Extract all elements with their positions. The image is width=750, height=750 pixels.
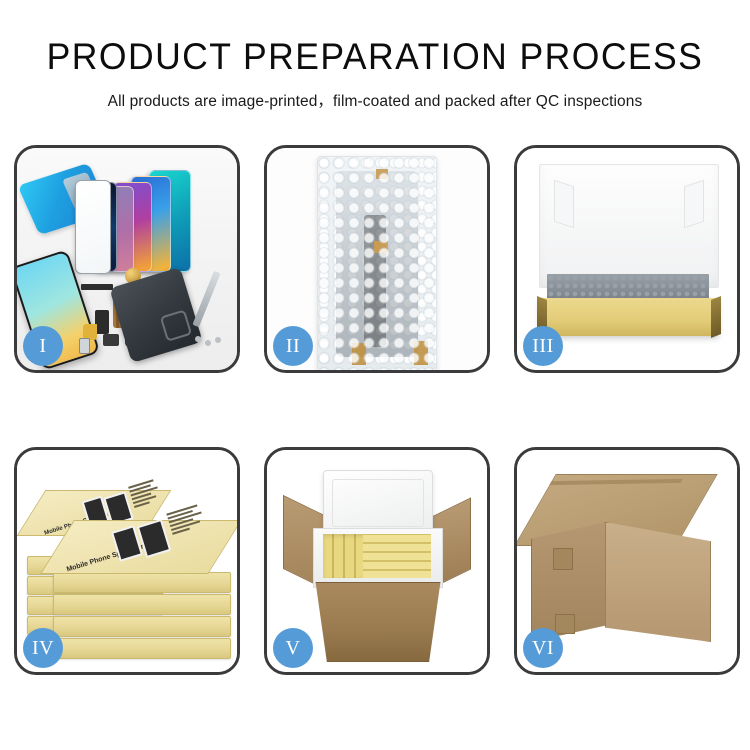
lid-flap-right [684,180,704,228]
bubble-texture-overlay [317,156,435,370]
stacked-box [53,638,231,659]
page-subtitle: All products are image-printed，film-coat… [0,89,750,111]
stacked-box [53,594,231,615]
page-title: PRODUCT PREPARATION PROCESS [15,38,735,75]
step-panel-5: V [264,447,490,675]
step-badge-6: VI [523,628,563,668]
carton-front-panel [307,582,449,662]
small-connector-part [79,338,90,354]
step-panel-4: Mobile Phone Spare Parts [14,447,240,675]
box-lid-graphic [539,164,719,288]
step-badge-3: III [523,326,563,366]
step-panel-2: II [264,145,490,373]
step-badge-2: II [273,326,313,366]
battery-connector-part [95,310,109,334]
flex-cable-part-1 [81,284,113,290]
carton-tape-tab-bottom [555,614,575,634]
carton-tape-tab-top [553,548,573,570]
screen-glass-graphic [75,180,111,274]
carton-right-face [605,522,711,642]
styrofoam-lid-graphic [323,470,433,536]
step-badge-1: I [23,326,63,366]
kraft-box-base-graphic [539,298,719,336]
speaker-part [103,334,119,346]
step-badge-5: V [273,628,313,668]
lid-flap-left [554,180,574,228]
screws-graphic [195,336,225,350]
step-panel-1: I [14,145,240,373]
process-steps-grid: I II [14,145,740,675]
phone-lineup-graphic [75,162,225,272]
step-panel-3: III [514,145,740,373]
header: PRODUCT PREPARATION PROCESS All products… [0,0,750,111]
yellow-boxes-row-2 [363,534,431,578]
stacked-box [53,616,231,637]
product-preparation-infographic: PRODUCT PREPARATION PROCESS All products… [0,0,750,750]
stacked-box [53,572,231,593]
step-panel-6: VI [514,447,740,675]
step-badge-4: IV [23,628,63,668]
